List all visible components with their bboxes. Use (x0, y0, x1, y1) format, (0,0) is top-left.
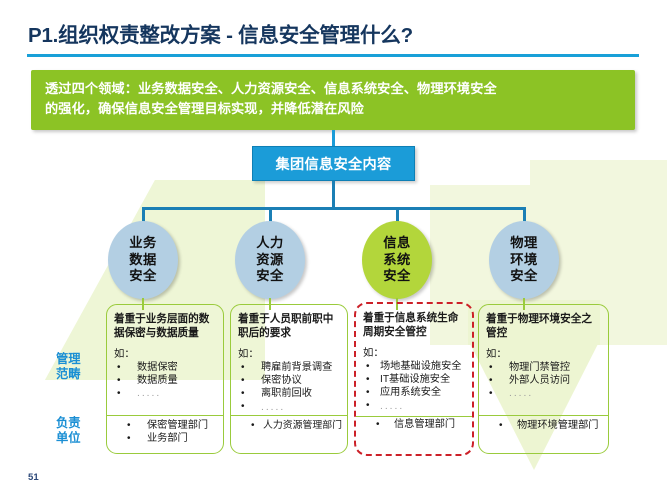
list-item-ellipsis: ..... (489, 387, 602, 400)
card-owner-list: 保密管理部门 业务部门 (117, 419, 219, 445)
row-label-scope-line-2: 范畴 (56, 367, 81, 382)
card-owner-list: 物理环境管理部门 (489, 419, 604, 432)
card-example-label: 如： (107, 340, 223, 361)
list-item: 保密管理部门 (127, 419, 213, 432)
node-label-line-2: 资源 (256, 252, 283, 269)
banner-line-1: 透过四个领域：业务数据安全、人力资源安全、信息系统安全、物理环境安全 (45, 79, 621, 99)
row-label-owner-line-1: 负责 (56, 416, 81, 431)
node-label-line-3: 安全 (129, 268, 156, 285)
card-example-label: 如： (231, 340, 347, 361)
card-owner-section: 信息管理部门 (356, 412, 472, 454)
row-label-scope: 管理 范畴 (56, 352, 81, 382)
card-owner-section: 保密管理部门 业务部门 (107, 413, 223, 453)
node-physical-environment-security[interactable]: 物理 环境 安全 (489, 221, 559, 299)
node-label-line-2: 环境 (510, 252, 537, 269)
slide-number: 51 (28, 472, 39, 483)
list-item: 物理门禁管控 (489, 361, 602, 374)
list-item-ellipsis: ..... (366, 400, 466, 413)
list-item: 数据保密 (117, 361, 217, 374)
card-owner-list: 信息管理部门 (366, 418, 468, 431)
row-label-owner: 负责 单位 (56, 416, 81, 446)
tree-horizontal-bus (142, 207, 525, 210)
list-item: 业务部门 (127, 432, 213, 445)
list-item: 聘雇前背景调查 (241, 361, 341, 374)
card-human-resource-security[interactable]: 着重于人员职前职中职后的要求 如： 聘雇前背景调查 保密协议 离职前回收 ...… (230, 304, 348, 454)
card-heading: 着重于物理环境安全之管控 (479, 305, 608, 340)
root-node-group-infosec: 集团信息安全内容 (252, 146, 415, 181)
list-item: 信息管理部门 (376, 418, 462, 431)
node-business-data-security[interactable]: 业务 数据 安全 (108, 221, 178, 299)
list-item-ellipsis: ..... (117, 387, 217, 400)
node-label-line-3: 安全 (383, 268, 410, 285)
row-label-owner-line-2: 单位 (56, 431, 81, 446)
row-label-scope-line-1: 管理 (56, 352, 81, 367)
list-item: IT基础设施安全 (366, 373, 466, 386)
card-item-list: 物理门禁管控 外部人员访问 ..... (479, 361, 608, 401)
page-title: P1.组织权责整改方案 - 信息安全管理什么? (28, 18, 413, 48)
list-item: 保密协议 (241, 374, 341, 387)
node-label-line-1: 物理 (510, 235, 537, 252)
list-item: 外部人员访问 (489, 374, 602, 387)
branch-connector-4 (523, 207, 526, 222)
node-label-line-1: 人力 (256, 235, 283, 252)
card-owner-section: 人力资源管理部门 (231, 413, 347, 453)
slide-canvas: P1.组织权责整改方案 - 信息安全管理什么? 透过四个领域：业务数据安全、人力… (0, 0, 667, 500)
title-underline (27, 54, 639, 57)
branch-connector-2 (269, 207, 272, 222)
list-item: 应用系统安全 (366, 386, 466, 399)
node-label-line-1: 信息 (383, 235, 410, 252)
node-human-resource-security[interactable]: 人力 资源 安全 (235, 221, 305, 299)
branch-connector-1 (142, 207, 145, 222)
node-label-line-3: 安全 (256, 268, 283, 285)
summary-banner: 透过四个领域：业务数据安全、人力资源安全、信息系统安全、物理环境安全 的强化，确… (31, 70, 635, 130)
card-item-list: 数据保密 数据质量 ..... (107, 361, 223, 401)
card-example-label: 如： (479, 340, 608, 361)
card-owner-section: 物理环境管理部门 (479, 413, 608, 453)
list-item-ellipsis: ..... (241, 401, 341, 414)
banner-line-2: 的强化，确保信息安全管理目标实现，并降低潜在风险 (45, 99, 621, 119)
card-physical-environment-security[interactable]: 着重于物理环境安全之管控 如： 物理门禁管控 外部人员访问 ..... 物理环境… (478, 304, 609, 454)
card-item-list: 聘雇前背景调查 保密协议 离职前回收 ..... (231, 361, 347, 414)
list-item: 人力资源管理部门 (251, 419, 337, 432)
list-item: 数据质量 (117, 374, 217, 387)
card-information-system-security[interactable]: 着重于信息系统生命周期安全管控 如： 场地基础设施安全 IT基础设施安全 应用系… (354, 302, 474, 456)
card-item-list: 场地基础设施安全 IT基础设施安全 应用系统安全 ..... (356, 360, 472, 413)
card-owner-list: 人力资源管理部门 (241, 419, 343, 432)
node-label-line-2: 数据 (129, 252, 156, 269)
node-label-line-2: 系统 (383, 252, 410, 269)
node-label-line-1: 业务 (129, 235, 156, 252)
list-item: 物理环境管理部门 (499, 419, 598, 432)
list-item: 场地基础设施安全 (366, 360, 466, 373)
card-example-label: 如： (356, 339, 472, 360)
root-node-label: 集团信息安全内容 (276, 154, 392, 174)
card-heading: 着重于业务层面的数据保密与数据质量 (107, 305, 223, 340)
card-heading: 着重于人员职前职中职后的要求 (231, 305, 347, 340)
root-drop-connector (332, 181, 335, 207)
node-information-system-security[interactable]: 信息 系统 安全 (362, 221, 432, 299)
card-business-data-security[interactable]: 着重于业务层面的数据保密与数据质量 如： 数据保密 数据质量 ..... 保密管… (106, 304, 224, 454)
banner-to-root-connector (332, 130, 335, 146)
list-item: 离职前回收 (241, 387, 341, 400)
branch-connector-3 (396, 207, 399, 222)
node-label-line-3: 安全 (510, 268, 537, 285)
card-heading: 着重于信息系统生命周期安全管控 (356, 304, 472, 339)
